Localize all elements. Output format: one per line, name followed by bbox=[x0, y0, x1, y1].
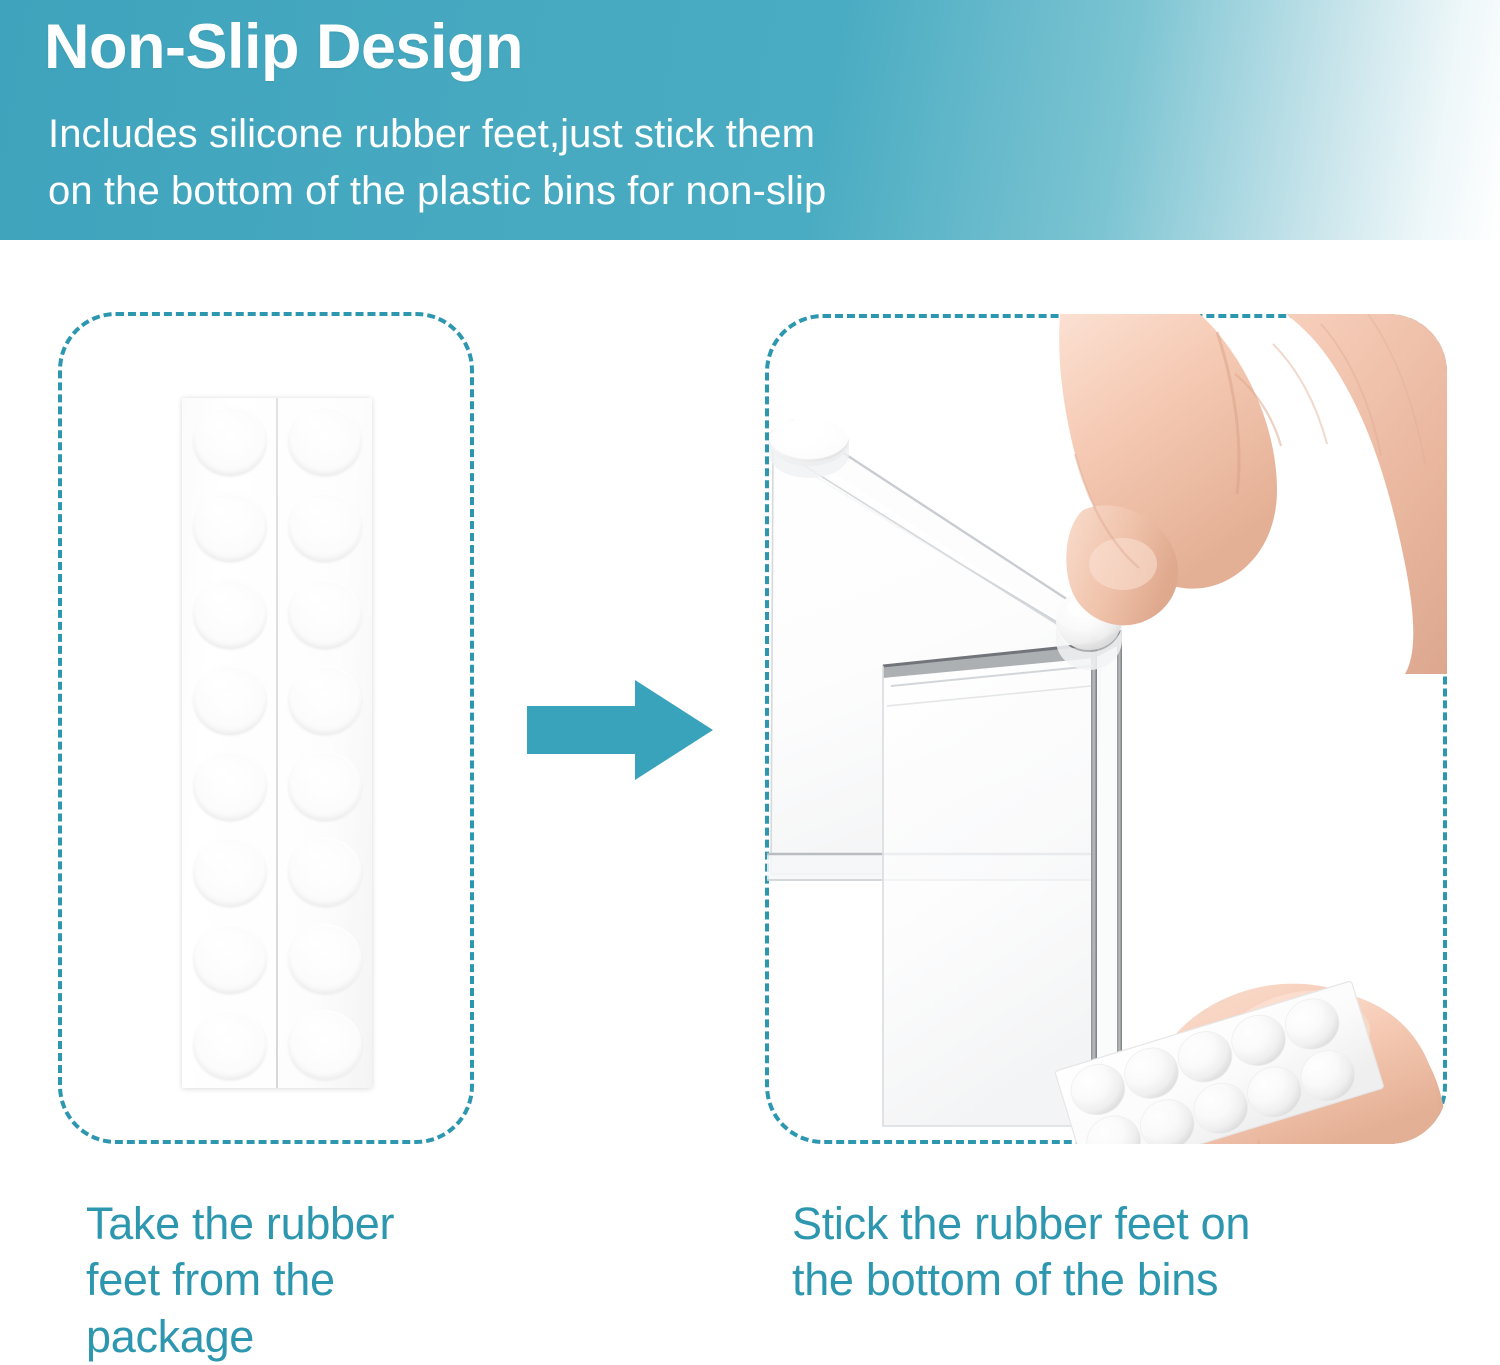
bumper-cell bbox=[182, 571, 277, 657]
header-subtitle: Includes silicone rubber feet,just stick… bbox=[48, 106, 826, 220]
bumper-cell bbox=[277, 1002, 372, 1088]
bumper-cell bbox=[182, 398, 277, 484]
rubber-foot-dome bbox=[193, 579, 267, 649]
rubber-foot-dome bbox=[288, 751, 362, 821]
rubber-foot-dome bbox=[193, 924, 267, 994]
step-flow-arrow-icon bbox=[527, 680, 713, 780]
header-banner: Non-Slip Design Includes silicone rubber… bbox=[0, 0, 1500, 240]
bumper-cell bbox=[182, 916, 277, 1002]
rubber-foot-dome bbox=[288, 837, 362, 907]
bumper-cell bbox=[277, 916, 372, 1002]
step-1-caption-line-1: Take the rubber bbox=[86, 1196, 394, 1252]
bumper-cell bbox=[182, 657, 277, 743]
page-title: Non-Slip Design bbox=[44, 14, 523, 80]
bumper-cell bbox=[182, 1002, 277, 1088]
rubber-foot-dome bbox=[288, 406, 362, 476]
rubber-foot-dome bbox=[193, 492, 267, 562]
bumper-cell bbox=[277, 484, 372, 570]
bumper-cell bbox=[182, 743, 277, 829]
rubber-foot-dome bbox=[193, 665, 267, 735]
rubber-foot-dome bbox=[288, 1010, 362, 1080]
bumper-cell bbox=[277, 657, 372, 743]
bumper-cell bbox=[277, 829, 372, 915]
step-2-caption-line-2: the bottom of the bins bbox=[792, 1252, 1250, 1308]
rubber-foot-dome bbox=[193, 406, 267, 476]
step-2-caption: Stick the rubber feet on the bottom of t… bbox=[792, 1196, 1250, 1309]
rubber-foot-dome bbox=[288, 924, 362, 994]
rubber-foot-dome bbox=[288, 492, 362, 562]
rubber-feet-strip bbox=[182, 398, 372, 1088]
bumper-cell bbox=[277, 743, 372, 829]
rubber-foot-dome bbox=[193, 1010, 267, 1080]
bumper-cell bbox=[182, 829, 277, 915]
rubber-foot-dome bbox=[288, 579, 362, 649]
bumper-cell bbox=[277, 398, 372, 484]
step-2-caption-line-1: Stick the rubber feet on bbox=[792, 1196, 1250, 1252]
step-1-caption: Take the rubber feet from the package bbox=[86, 1196, 394, 1365]
step-1-caption-line-2: feet from the bbox=[86, 1252, 394, 1308]
bumper-cell bbox=[182, 484, 277, 570]
step-1-caption-line-3: package bbox=[86, 1309, 394, 1365]
rubber-foot-dome bbox=[193, 837, 267, 907]
bumper-cell bbox=[277, 571, 372, 657]
rubber-foot-dome bbox=[288, 665, 362, 735]
header-subtitle-line-2: on the bottom of the plastic bins for no… bbox=[48, 163, 826, 220]
rubber-foot-dome bbox=[193, 751, 267, 821]
step-2-illustration bbox=[765, 314, 1447, 1144]
header-subtitle-line-1: Includes silicone rubber feet,just stick… bbox=[48, 106, 826, 163]
